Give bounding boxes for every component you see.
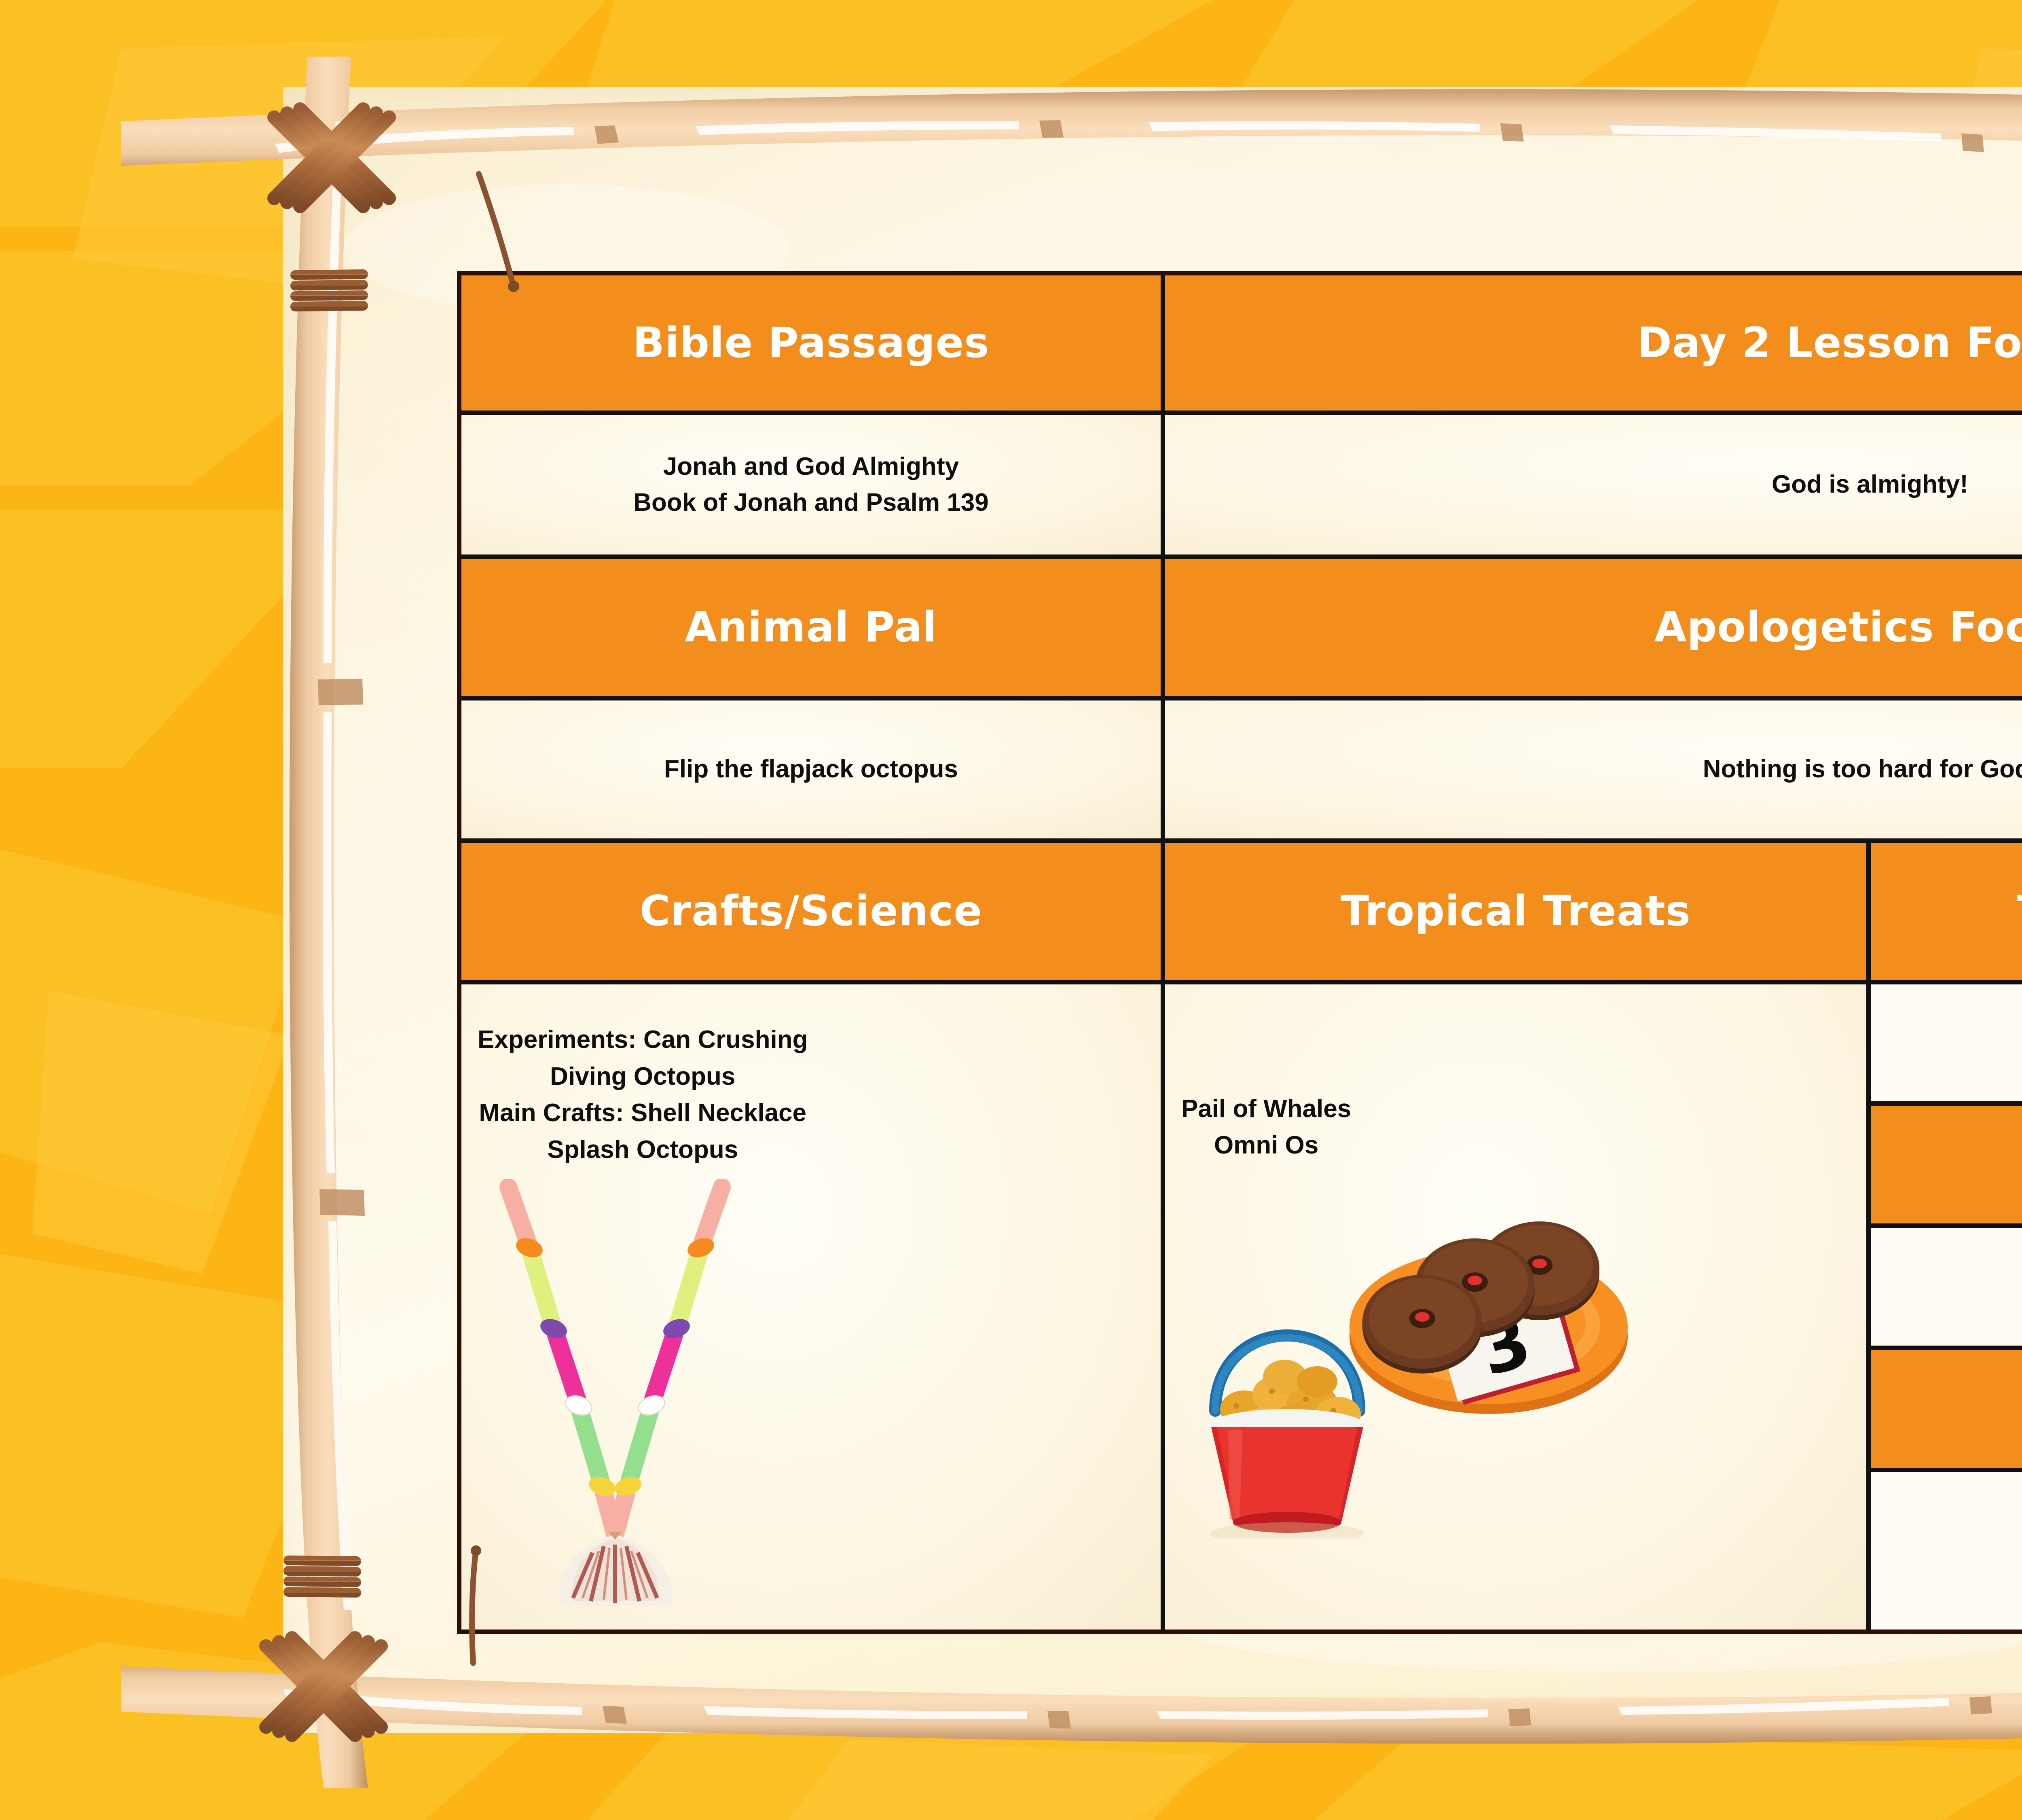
cell-bible-passages-value: Jonah and God Almighty Book of Jonah and… [461, 415, 1165, 559]
scallop-shell-pendant [558, 1532, 672, 1606]
header-games: Games [1871, 1106, 2022, 1228]
treats-line-2: Omni Os [1181, 1127, 1351, 1164]
apologetics-text: Nothing is too hard for God. [1687, 751, 2022, 787]
red-pail-with-goldfish [1210, 1335, 1365, 1539]
table-row: Crafts/Science Tropical Treats Treasured… [461, 843, 2022, 984]
tropical-treats-images: 3 [1165, 1175, 1642, 1548]
bible-passage-line-2: Book of Jonah and Psalm 139 [633, 485, 989, 521]
header-tropical-treats: Tropical Treats [1165, 843, 1871, 984]
animal-pal-text: Flip the flapjack octopus [648, 751, 974, 787]
header-animal-pal: Animal Pal [461, 559, 1165, 700]
chocolate-donut [1362, 1275, 1482, 1373]
cell-tropical-treats-content: Pail of Whales Omni Os 3 [1165, 984, 1871, 1630]
crafts-line-2: Diving Octopus [478, 1058, 808, 1095]
table-row: Jonah and God Almighty Book of Jonah and… [461, 415, 2022, 559]
shell-necklace-image [461, 1179, 769, 1617]
table-row: Animal Pal Apologetics Focus [461, 559, 2022, 700]
vbs-schedule-table: Bible Passages Day 2 Lesson Focus Jonah … [457, 271, 2022, 1634]
cell-right-stack: Jeremiah 32:27 Games Sharks and Minnows … [1871, 984, 2022, 1630]
header-bible-passages: Bible Passages [461, 275, 1165, 415]
donuts-on-plate: 3 [1349, 1221, 1628, 1414]
cell-apologetics-value: Nothing is too hard for God. [1165, 700, 2022, 843]
crafts-line-3: Main Crafts: Shell Necklace [478, 1095, 808, 1132]
crafts-line-4: Splash Octopus [478, 1132, 808, 1168]
cell-animal-pal-value: Flip the flapjack octopus [461, 700, 1165, 843]
lesson-focus-text: God is almighty! [1756, 467, 1984, 502]
bible-passage-line-1: Jonah and God Almighty [633, 449, 989, 485]
table-row: Experiments: Can Crushing Diving Octopus… [461, 984, 2022, 1630]
header-day-2-lesson-focus: Day 2 Lesson Focus [1165, 275, 2022, 415]
cell-lesson-focus-value: God is almighty! [1165, 415, 2022, 559]
header-cool-contests: Cool Contests [1871, 1350, 2022, 1472]
cell-crafts-science-content: Experiments: Can Crushing Diving Octopus… [461, 984, 1165, 1630]
header-apologetics-focus: Apologetics Focus [1165, 559, 2022, 700]
table-row: Flip the flapjack octopus Nothing is too… [461, 700, 2022, 843]
cool-contests-value: Team Cheers [1871, 1472, 2022, 1630]
pail-and-donuts-illustration: 3 [1165, 1175, 1642, 1539]
header-treasured-verses: Treasured Verses [1871, 843, 2022, 984]
shell-necklace-illustration [461, 1179, 769, 1608]
treasured-verse-value: Jeremiah 32:27 [1871, 984, 2022, 1106]
treats-line-1: Pail of Whales [1181, 1091, 1351, 1128]
table-row: Bible Passages Day 2 Lesson Focus [461, 275, 2022, 415]
crafts-line-1: Experiments: Can Crushing [478, 1022, 808, 1058]
header-crafts-science: Crafts/Science [461, 843, 1165, 984]
games-values: Sharks and Minnows Fish Out of Water [1871, 1228, 2022, 1350]
